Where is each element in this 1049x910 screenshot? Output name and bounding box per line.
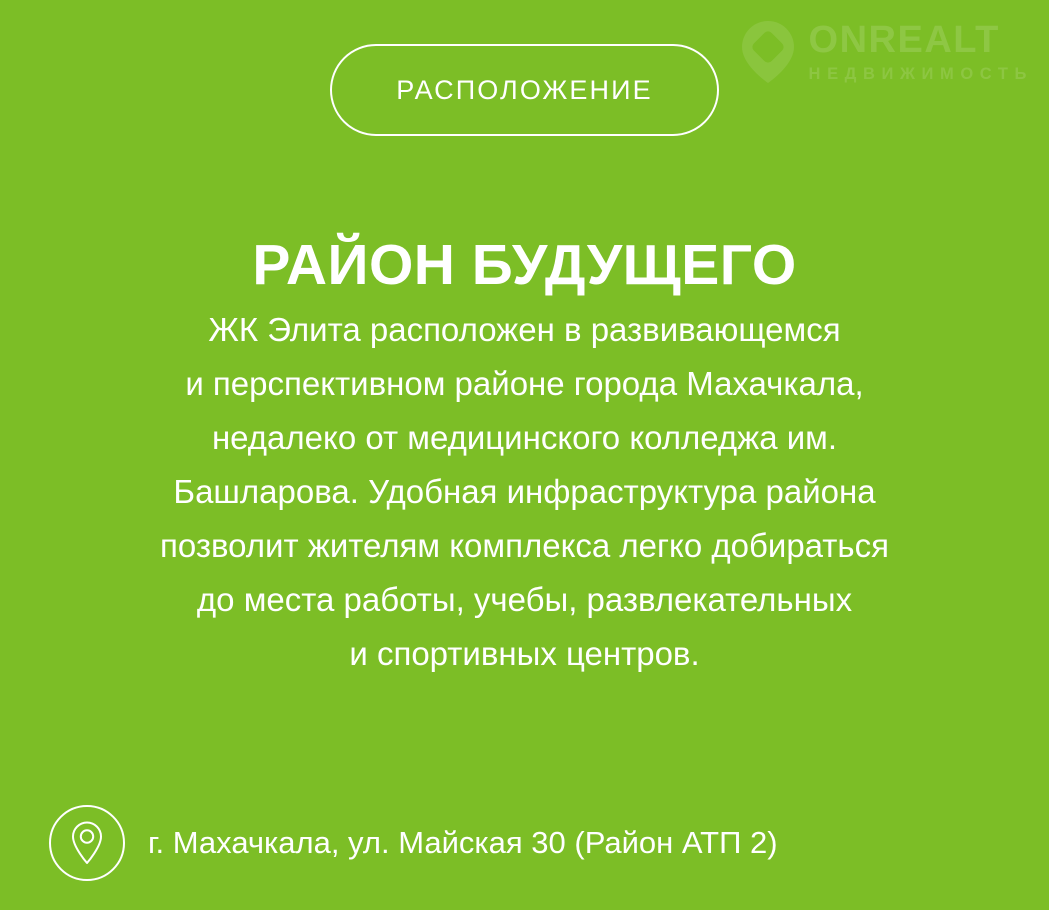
description-line: Башларова. Удобная инфраструктура района <box>0 465 1049 519</box>
description-line: и спортивных центров. <box>0 627 1049 681</box>
section-badge-label: РАСПОЛОЖЕНИЕ <box>396 77 652 104</box>
description-paragraph: ЖК Элита расположен в развивающемся и пе… <box>0 303 1049 681</box>
description-line: и перспективном районе города Махачкала, <box>0 357 1049 411</box>
location-slide: ONREALT НЕДВИЖИМОСТЬ РАСПОЛОЖЕНИЕ РАЙОН … <box>0 0 1049 910</box>
description-line: до места работы, учебы, развлекательных <box>0 573 1049 627</box>
address-footer: г. Махачкала, ул. Майская 30 (Район АТП … <box>48 804 778 882</box>
badge-row: РАСПОЛОЖЕНИЕ <box>0 44 1049 136</box>
map-pin-icon <box>48 804 126 882</box>
address-text: г. Махачкала, ул. Майская 30 (Район АТП … <box>148 824 778 861</box>
section-badge: РАСПОЛОЖЕНИЕ <box>330 44 718 136</box>
page-title: РАЙОН БУДУЩЕГО <box>0 234 1049 297</box>
description-line: недалеко от медицинского колледжа им. <box>0 411 1049 465</box>
description-line: ЖК Элита расположен в развивающемся <box>0 303 1049 357</box>
description-line: позволит жителям комплекса легко добират… <box>0 519 1049 573</box>
